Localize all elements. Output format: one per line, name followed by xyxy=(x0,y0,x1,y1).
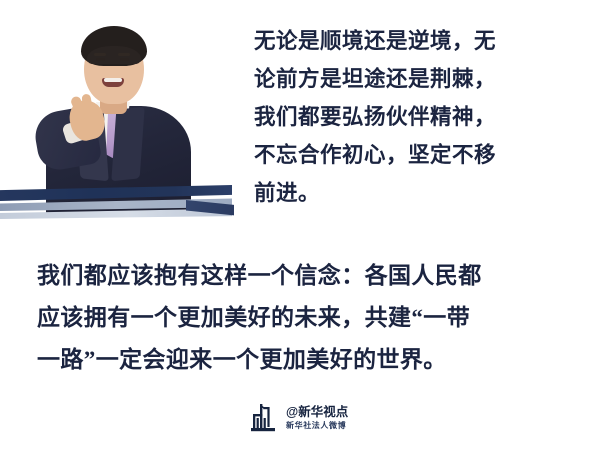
suit-lapel-right xyxy=(111,107,144,182)
quote-top: 无论是顺境还是逆境，无 论前方是坦途还是荆棘， 我们都要弘扬伙伴精神， 不忘合作… xyxy=(254,22,562,212)
hair xyxy=(81,26,147,66)
eyebrow-right xyxy=(118,53,130,56)
eye-left xyxy=(96,58,105,61)
mouth xyxy=(102,78,124,87)
speaker-portrait xyxy=(30,10,205,215)
quote-top-line-3: 我们都要弘扬伙伴精神， xyxy=(254,98,562,136)
eyebrow-left xyxy=(94,53,106,56)
logo-subtitle: 新华社法人微博 xyxy=(286,422,348,430)
eye-right xyxy=(120,58,129,61)
quote-top-line-5: 前进。 xyxy=(254,174,562,212)
quote-bottom-line-2: 应该拥有一个更加美好的未来，共建“一带 xyxy=(37,297,565,339)
xinhua-tower-mark-icon xyxy=(248,402,280,434)
logo-handle: @新华视点 xyxy=(286,406,348,419)
portrait-block xyxy=(0,0,232,236)
publisher-logo: @新华视点 新华社法人微博 xyxy=(248,399,368,437)
quote-bottom-line-1: 我们都应该抱有这样一个信念：各国人民都 xyxy=(37,255,565,297)
quote-top-line-4: 不忘合作初心，坚定不移 xyxy=(254,136,562,174)
quote-top-line-1: 无论是顺境还是逆境，无 xyxy=(254,22,562,60)
logo-text-group: @新华视点 新华社法人微博 xyxy=(286,406,348,430)
quote-top-line-2: 论前方是坦途还是荆棘， xyxy=(254,60,562,98)
quote-bottom: 我们都应该抱有这样一个信念：各国人民都 应该拥有一个更加美好的未来，共建“一带 … xyxy=(37,255,565,381)
poster-canvas: 无论是顺境还是逆境，无 论前方是坦途还是荆棘， 我们都要弘扬伙伴精神， 不忘合作… xyxy=(0,0,600,451)
quote-bottom-line-3: 一路”一定会迎来一个更加美好的世界。 xyxy=(37,339,565,381)
